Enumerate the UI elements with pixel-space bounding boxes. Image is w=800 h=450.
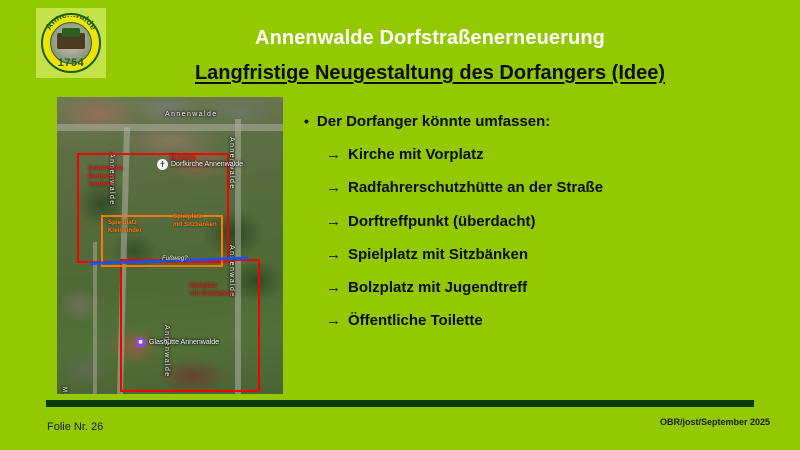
list-item-label: Radfahrerschutzhütte an der Straße [348,179,603,196]
map-poi-glassworks-label: Glashütte Annenwalde [149,339,219,346]
slide-subtitle: Langfristige Neugestaltung des Dorfanger… [110,62,750,85]
slide-number: Folie Nr. 26 [47,421,103,433]
arrow-right-icon: → [326,213,341,230]
arrow-right-icon: → [326,279,341,296]
footer-credit: OBR/jost/September 2025 [660,417,770,427]
map-annotation-bolzplatz: Bolzplatz mit Sitzbänken [190,282,234,298]
list-item-label: Dorftreffpunkt (überdacht) [348,213,536,230]
logo-disc: Annenwalde 1754 [41,13,101,73]
map-annotation-spielplatz-kleinkinder: Spielplatz Kleinkinder [108,219,142,235]
map-poi-church: ✝ Dorfkirche Annenwalde [157,159,243,170]
map-poi-glassworks: ■ Glashütte Annenwalde [135,337,219,348]
annenwalde-logo: Annenwalde 1754 [36,8,106,78]
list-item: → Radfahrerschutzhütte an der Straße [326,179,774,196]
bullet-dot-icon: • [304,113,309,129]
list-item: → Spielplatz mit Sitzbänken [326,246,774,263]
arrow-right-icon: → [326,179,341,196]
slide-title: Annenwalde Dorfstraßenerneuerung [110,27,750,50]
footer-divider [46,400,754,407]
map-boundary-red-lower [120,259,260,392]
list-item-label: Kirche mit Vorplatz [348,146,484,163]
list-item-lead: • Der Dorfanger könnte umfassen: [304,113,774,130]
arrow-right-icon: → [326,312,341,329]
list-item: → Kirche mit Vorplatz [326,146,774,163]
presentation-slide: Annenwalde 1754 Annenwalde Dorfstraßener… [0,0,800,450]
map-annotation-spielplatz-sitzbaenke: Spielplatz mit Sitzbänken [173,213,217,229]
church-icon: ✝ [157,159,168,170]
map-poi-church-label: Dorfkirche Annenwalde [171,161,243,168]
list-item: → Bolzplatz mit Jugendtreff [326,279,774,296]
list-item: → Dorftreffpunkt (überdacht) [326,213,774,230]
aerial-map-image: Annenwalde Annenwalde Annenwalde Annenwa… [57,97,283,394]
glassworks-icon: ■ [135,337,146,348]
street-label-north: Annenwalde [165,111,218,118]
list-item-lead-label: Der Dorfanger könnte umfassen: [317,113,550,130]
map-road-north [57,124,283,131]
arrow-right-icon: → [326,146,341,163]
arrow-right-icon: → [326,246,341,263]
list-item: → Öffentliche Toilette [326,312,774,329]
map-annotation-schutzhuette: Schutzhütte Dorfplatz Toiletten [88,165,123,189]
list-item-label: Bolzplatz mit Jugendtreff [348,279,527,296]
street-label-edge: Mühle [61,387,67,394]
bullet-list: • Der Dorfanger könnte umfassen: → Kirch… [304,113,774,346]
list-item-label: Spielplatz mit Sitzbänken [348,246,528,263]
logo-year: 1754 [43,57,99,69]
list-item-label: Öffentliche Toilette [348,312,483,329]
map-annotation-fussweg: Fußweg? [162,255,188,263]
